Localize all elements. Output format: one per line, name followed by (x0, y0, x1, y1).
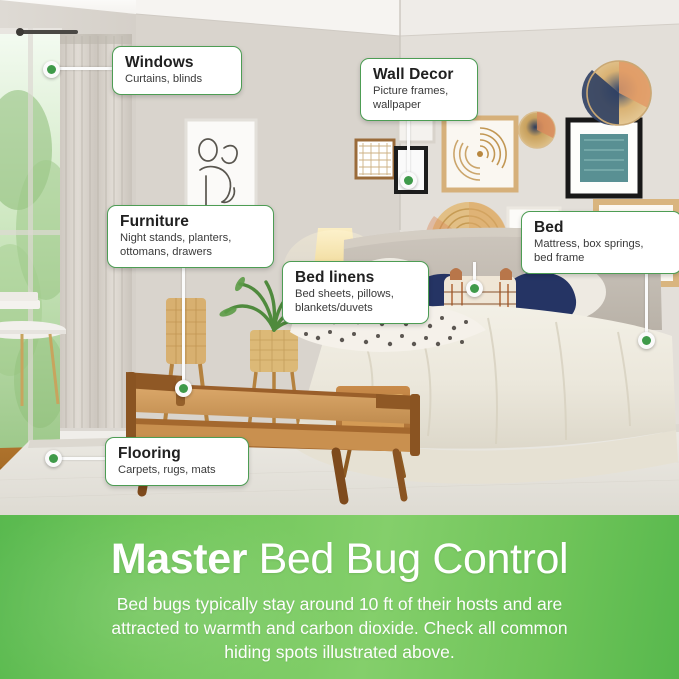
connector-line-windows (57, 67, 115, 70)
callout-furniture[interactable]: Furniture Night stands, planters, ottoma… (107, 205, 274, 268)
callout-bed-subtitle: Mattress, box springs, bed frame (534, 237, 669, 265)
connector-line-flooring (59, 457, 107, 460)
connector-dot-bed-linens (466, 280, 483, 297)
callout-windows-title: Windows (125, 54, 229, 71)
callout-wall-decor-subtitle: Picture frames, wallpaper (373, 84, 465, 112)
connector-dot-wall-decor (400, 172, 417, 189)
callout-wall-decor[interactable]: Wall Decor Picture frames, wallpaper (360, 58, 478, 121)
callout-windows[interactable]: Windows Curtains, blinds (112, 46, 242, 95)
banner-title-rest: Bed Bug Control (247, 535, 568, 583)
infographic-page: Windows Curtains, blinds Wall Decor Pict… (0, 0, 679, 679)
callout-furniture-title: Furniture (120, 213, 261, 230)
callout-wall-decor-title: Wall Decor (373, 66, 465, 83)
callout-bed-linens-subtitle: Bed sheets, pillows, blankets/duvets (295, 287, 416, 315)
banner-subtitle: Bed bugs typically stay around 10 ft of … (40, 592, 640, 664)
connector-line-furniture (182, 250, 185, 390)
bottom-banner: Master Bed Bug Control Bed bugs typicall… (0, 515, 679, 679)
callout-bed-title: Bed (534, 219, 669, 236)
callout-bed-linens[interactable]: Bed linens Bed sheets, pillows, blankets… (282, 261, 429, 324)
connector-line-bed (645, 264, 648, 342)
connector-dot-bed (638, 332, 655, 349)
callout-bed-linens-title: Bed linens (295, 269, 416, 286)
callout-windows-subtitle: Curtains, blinds (125, 72, 229, 86)
banner-title-bold: Master (111, 535, 247, 583)
callout-flooring[interactable]: Flooring Carpets, rugs, mats (105, 437, 249, 486)
connector-dot-windows (43, 61, 60, 78)
connector-dot-flooring (45, 450, 62, 467)
banner-title: Master Bed Bug Control (0, 515, 679, 581)
callout-flooring-title: Flooring (118, 445, 236, 462)
callout-furniture-subtitle: Night stands, planters, ottomans, drawer… (120, 231, 261, 259)
callout-bed[interactable]: Bed Mattress, box springs, bed frame (521, 211, 679, 274)
callout-flooring-subtitle: Carpets, rugs, mats (118, 463, 236, 477)
connector-dot-furniture (175, 380, 192, 397)
